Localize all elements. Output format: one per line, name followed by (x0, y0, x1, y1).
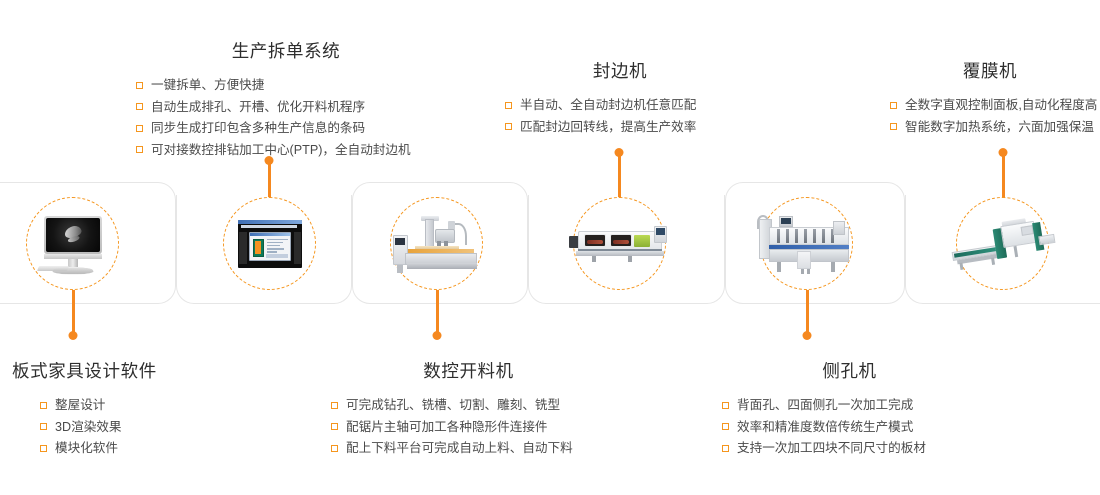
cnc-router-icon (391, 213, 483, 275)
block-title: 生产拆单系统 (136, 38, 436, 63)
list-item-label: 效率和精准度数倍传统生产模式 (737, 420, 913, 434)
list-item: 全数字直观控制面板,自动化程度高 (890, 95, 1100, 117)
connector-dot-laminating (999, 148, 1008, 157)
workflow-infographic: 生产拆单系统 一键拆单、方便快捷 自动生成排孔、开槽、优化开料机程序 同步生成打… (0, 0, 1100, 495)
list-item: 效率和精准度数倍传统生产模式 (722, 417, 997, 439)
list-item: 模块化软件 (40, 438, 202, 460)
connector-stem-side-drill (806, 290, 809, 335)
software-screenshot-icon (238, 220, 302, 268)
square-bullet-icon (722, 423, 729, 430)
list-item-label: 全数字直观控制面板,自动化程度高 (905, 98, 1097, 112)
list-item-label: 一键拆单、方便快捷 (151, 78, 264, 92)
feature-list: 半自动、全自动封边机任意匹配 匹配封边回转线，提高生产效率 (505, 95, 735, 138)
edge-banding-icon (568, 224, 672, 264)
square-bullet-icon (722, 445, 729, 452)
square-bullet-icon (890, 123, 897, 130)
list-item-label: 3D渲染效果 (55, 420, 121, 434)
side-drill-icon (757, 213, 857, 275)
list-item: 3D渲染效果 (40, 417, 202, 439)
connector-dot-side-drill (803, 331, 812, 340)
node-cnc-nesting-router[interactable] (390, 197, 483, 290)
node-design-software-monitor[interactable] (26, 197, 119, 290)
list-item-label: 可对接数控排钻加工中心(PTP)，全自动封边机 (151, 143, 411, 157)
square-bullet-icon (331, 423, 338, 430)
feature-list: 背面孔、四面侧孔一次加工完成 效率和精准度数倍传统生产模式 支持一次加工四块不同… (722, 395, 997, 460)
list-item-label: 背面孔、四面侧孔一次加工完成 (737, 398, 913, 412)
list-item: 半自动、全自动封边机任意匹配 (505, 95, 735, 117)
list-item-label: 匹配封边回转线，提高生产效率 (520, 120, 696, 134)
connector-dot-cnc-router (433, 331, 442, 340)
connector-dot-design-software (69, 331, 78, 340)
feature-list: 可完成钻孔、铣槽、切割、雕刻、铣型 配锯片主轴可加工各种隐形件连接件 配上下料平… (331, 395, 606, 460)
list-item-label: 可完成钻孔、铣槽、切割、雕刻、铣型 (346, 398, 560, 412)
square-bullet-icon (136, 82, 143, 89)
list-item: 自动生成排孔、开槽、优化开料机程序 (136, 97, 436, 119)
block-title: 侧孔机 (722, 358, 977, 383)
list-item-label: 同步生成打印包含多种生产信息的条码 (151, 121, 365, 135)
square-bullet-icon (505, 123, 512, 130)
text-block-edge-banding-machine: 封边机 半自动、全自动封边机任意匹配 匹配封边回转线，提高生产效率 (505, 58, 735, 138)
square-bullet-icon (136, 103, 143, 110)
node-production-order-software[interactable] (223, 197, 316, 290)
list-item: 背面孔、四面侧孔一次加工完成 (722, 395, 997, 417)
text-block-furniture-design-software: 板式家具设计软件 整屋设计 3D渲染效果 模块化软件 (12, 358, 202, 460)
square-bullet-icon (136, 125, 143, 132)
block-title: 板式家具设计软件 (12, 358, 202, 383)
feature-list: 整屋设计 3D渲染效果 模块化软件 (40, 395, 202, 460)
feature-list: 全数字直观控制面板,自动化程度高 智能数字加热系统，六面加强保温 (890, 95, 1100, 138)
text-block-cnc-nesting-router: 数控开料机 可完成钻孔、铣槽、切割、雕刻、铣型 配锯片主轴可加工各种隐形件连接件… (331, 358, 606, 460)
square-bullet-icon (136, 146, 143, 153)
block-title: 覆膜机 (890, 58, 1090, 83)
square-bullet-icon (722, 402, 729, 409)
list-item: 同步生成打印包含多种生产信息的条码 (136, 118, 436, 140)
list-item-label: 智能数字加热系统，六面加强保温 (905, 120, 1094, 134)
list-item-label: 支持一次加工四块不同尺寸的板材 (737, 441, 926, 455)
square-bullet-icon (331, 402, 338, 409)
list-item: 可完成钻孔、铣槽、切割、雕刻、铣型 (331, 395, 606, 417)
list-item: 整屋设计 (40, 395, 202, 417)
text-block-production-order-system: 生产拆单系统 一键拆单、方便快捷 自动生成排孔、开槽、优化开料机程序 同步生成打… (136, 38, 436, 161)
block-title: 数控开料机 (331, 358, 606, 383)
square-bullet-icon (890, 102, 897, 109)
list-item-label: 配上下料平台可完成自动上料、自动下料 (346, 441, 573, 455)
square-bullet-icon (40, 402, 47, 409)
list-item: 可对接数控排钻加工中心(PTP)，全自动封边机 (136, 140, 436, 162)
text-block-side-hole-drilling-machine: 侧孔机 背面孔、四面侧孔一次加工完成 效率和精准度数倍传统生产模式 支持一次加工… (722, 358, 997, 460)
laminating-press-icon (951, 220, 1055, 268)
imac-monitor-icon (40, 216, 106, 272)
list-item: 配上下料平台可完成自动上料、自动下料 (331, 438, 606, 460)
connector-stem-design-software (72, 290, 75, 335)
connector-stem-cnc-router (436, 290, 439, 335)
list-item-label: 整屋设计 (55, 398, 105, 412)
list-item: 智能数字加热系统，六面加强保温 (890, 117, 1100, 139)
list-item: 一键拆单、方便快捷 (136, 75, 436, 97)
square-bullet-icon (331, 445, 338, 452)
block-title: 封边机 (505, 58, 735, 83)
square-bullet-icon (40, 423, 47, 430)
text-block-laminating-machine: 覆膜机 全数字直观控制面板,自动化程度高 智能数字加热系统，六面加强保温 (890, 58, 1100, 138)
connector-dot-edge-banding (615, 148, 624, 157)
list-item-label: 半自动、全自动封边机任意匹配 (520, 98, 696, 112)
node-side-hole-drilling-machine[interactable] (760, 197, 853, 290)
square-bullet-icon (40, 445, 47, 452)
list-item: 匹配封边回转线，提高生产效率 (505, 117, 735, 139)
node-laminating-machine[interactable] (956, 197, 1049, 290)
list-item: 支持一次加工四块不同尺寸的板材 (722, 438, 997, 460)
node-edge-banding-machine[interactable] (573, 197, 666, 290)
list-item: 配锯片主轴可加工各种隐形件连接件 (331, 417, 606, 439)
list-item-label: 模块化软件 (55, 441, 118, 455)
list-item-label: 自动生成排孔、开槽、优化开料机程序 (151, 100, 365, 114)
square-bullet-icon (505, 102, 512, 109)
list-item-label: 配锯片主轴可加工各种隐形件连接件 (346, 420, 548, 434)
feature-list: 一键拆单、方便快捷 自动生成排孔、开槽、优化开料机程序 同步生成打印包含多种生产… (136, 75, 436, 161)
